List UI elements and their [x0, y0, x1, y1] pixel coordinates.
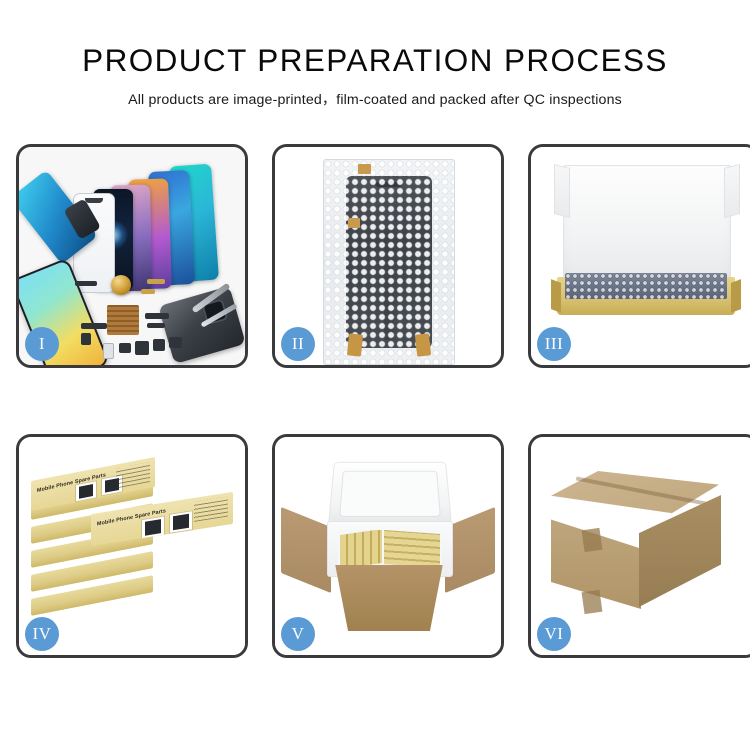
part-connector-icon [75, 281, 97, 286]
step-badge-3: III [537, 327, 571, 361]
kraft-boxes-inside [338, 530, 442, 568]
part-speaker-icon [169, 337, 182, 348]
page-header: PRODUCT PREPARATION PROCESS All products… [0, 0, 750, 109]
page-subtitle: All products are image-printed，film-coat… [0, 79, 750, 109]
carton-tape-upper-icon [582, 528, 603, 552]
process-step-grid: I II III [16, 144, 735, 658]
box-window-front-2 [169, 510, 193, 534]
step-badge-4: IV [25, 617, 59, 651]
bubble-wrap-bag [323, 159, 455, 365]
process-step-6: VI [528, 434, 750, 658]
logic-board-chip-icon [107, 305, 139, 335]
part-button-icon [119, 343, 131, 353]
kraft-box-group-left [340, 530, 382, 568]
tape-bottom-left-icon [347, 333, 363, 356]
white-box-lid-icon [563, 165, 731, 285]
bubble-texture [324, 160, 454, 364]
tape-top-icon [358, 164, 371, 174]
process-step-1: I [16, 144, 248, 368]
part-flex-gold-2-icon [141, 289, 155, 294]
process-step-5: V [272, 434, 504, 658]
box-spec-lines-front [194, 497, 228, 522]
part-flex-gold-icon [147, 279, 165, 284]
step-badge-5: V [281, 617, 315, 651]
tape-mid-icon [348, 218, 360, 228]
bubble-wrap-fill-icon [565, 273, 727, 299]
part-vibrator-icon [153, 339, 165, 351]
step-badge-1: I [25, 327, 59, 361]
part-module-icon [81, 333, 91, 345]
tape-bottom-right-icon [415, 333, 431, 356]
box-spec-lines-back [116, 462, 150, 489]
process-step-4: Mobile Phone Spare Parts Mobile Phone Sp… [16, 434, 248, 658]
part-ribbon-icon [145, 313, 169, 319]
step-badge-6: VI [537, 617, 571, 651]
foam-lid-icon [328, 462, 452, 528]
process-step-3: III [528, 144, 750, 368]
part-cable-icon [81, 323, 107, 329]
phone-fan-group [97, 163, 245, 293]
box-window-front-1 [141, 516, 165, 540]
kraft-box-stack: Mobile Phone Spare Parts Mobile Phone Sp… [27, 461, 239, 649]
part-camera-icon [135, 341, 149, 355]
kraft-box-group-right [384, 530, 440, 568]
carton-tape-lower-icon [582, 590, 603, 614]
speaker-coil-icon [111, 275, 131, 295]
process-step-2: II [272, 144, 504, 368]
part-ribbon-2-icon [147, 323, 165, 328]
step-badge-2: II [281, 327, 315, 361]
page-title: PRODUCT PREPARATION PROCESS [0, 0, 750, 79]
part-sim-tray-icon [103, 343, 114, 359]
